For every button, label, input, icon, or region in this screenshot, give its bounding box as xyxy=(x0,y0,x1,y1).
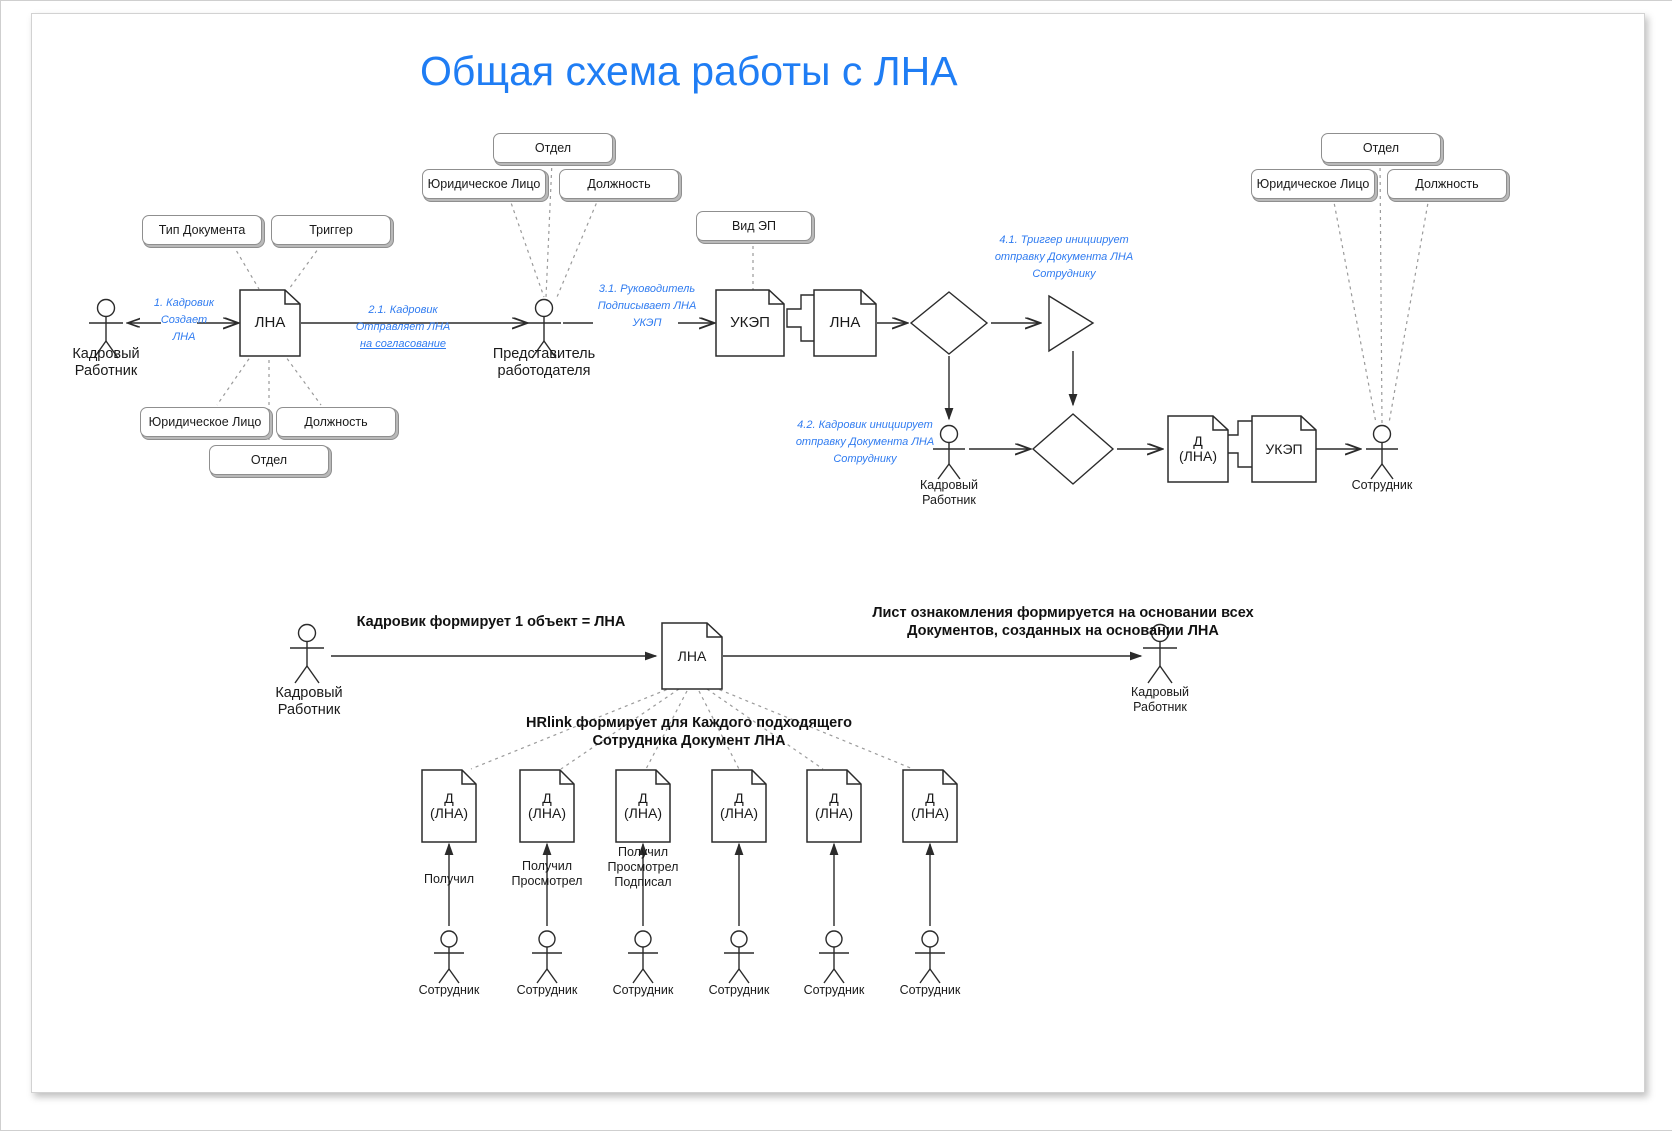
annotation-line: отправку Документа ЛНА xyxy=(787,434,943,451)
annotation-4-1: 4.1. Триггер инициирует отправку Докумен… xyxy=(986,232,1142,283)
annotation-line-underlined: на согласование xyxy=(339,336,467,353)
caption-acquaintance-sheet: Лист ознакомления формируется на основан… xyxy=(743,604,1383,640)
actor-label-employee-2: Сотрудник xyxy=(497,983,597,998)
document-label-line1: Д xyxy=(925,791,934,806)
annotation-line: Создает xyxy=(141,312,227,329)
actor-label-employee-3: Сотрудник xyxy=(593,983,693,998)
annotation-line: 4.1. Триггер инициирует xyxy=(986,232,1142,249)
status-line: Получил xyxy=(399,872,499,887)
document-label: ЛНА xyxy=(830,315,861,331)
actor-label-representative: Представитель работодателя xyxy=(474,346,614,380)
entity-box-yur-lico-2[interactable]: Юридическое Лицо xyxy=(422,169,546,199)
caption-hrlink-generates: HRlink формирует для Каждого подходящего… xyxy=(514,714,864,750)
status-label-3: Получил Просмотрел Подписал xyxy=(593,845,693,890)
annotation-3-1: 3.1. Руководитель Подписывает ЛНА УКЭП xyxy=(587,281,707,332)
entity-box-yur-lico-1[interactable]: Юридическое Лицо xyxy=(140,407,270,437)
document-label-line2: (ЛНА) xyxy=(1179,449,1217,464)
entity-box-doljnost-3[interactable]: Должность xyxy=(1387,169,1507,199)
annotation-line: Отправляет ЛНА xyxy=(339,319,467,336)
annotation-line: Подписывает ЛНА xyxy=(587,298,707,315)
document-label-line1: Д xyxy=(542,791,551,806)
document-label-line2: (ЛНА) xyxy=(815,806,853,821)
status-line: Просмотрел xyxy=(593,860,693,875)
document-ukep-1[interactable]: УКЭП xyxy=(715,289,785,357)
page-title: Общая схема работы с ЛНА xyxy=(420,48,958,95)
stick-figure xyxy=(628,931,658,983)
actor-label-employee-right: Сотрудник xyxy=(1327,478,1437,493)
document-lna-1[interactable]: ЛНА xyxy=(239,289,301,357)
stick-figure xyxy=(724,931,754,983)
actor-label-hr-bottom-right: Кадровый Работник xyxy=(1100,685,1220,715)
entity-box-tip-dokumenta[interactable]: Тип Документа xyxy=(142,215,262,245)
stick-figure xyxy=(434,931,464,983)
document-label-line1: Д xyxy=(1193,434,1202,449)
document-d-lna-2[interactable]: Д (ЛНА) xyxy=(519,769,575,843)
actor-label-line1: Кадровый xyxy=(1100,685,1220,700)
status-line: Подписал xyxy=(593,875,693,890)
document-ukep-2[interactable]: УКЭП xyxy=(1251,415,1317,483)
actor-label-line2: Работник xyxy=(1100,700,1220,715)
actor-label-hr-left: Кадровый Работник xyxy=(41,346,171,380)
caption-line: Сотрудника Документ ЛНА xyxy=(514,732,864,750)
document-label: ЛНА xyxy=(678,649,707,664)
actor-label-line2: работодателя xyxy=(474,363,614,380)
annotation-4-2: 4.2. Кадровик инициирует отправку Докуме… xyxy=(787,417,943,468)
document-d-lna-6[interactable]: Д (ЛНА) xyxy=(902,769,958,843)
actor-label-employee-5: Сотрудник xyxy=(784,983,884,998)
stick-figure xyxy=(290,625,324,684)
document-d-lna-3[interactable]: Д (ЛНА) xyxy=(615,769,671,843)
annotation-line: 4.2. Кадровик инициирует xyxy=(787,417,943,434)
document-d-lna-top[interactable]: Д (ЛНА) xyxy=(1167,415,1229,483)
stick-figure xyxy=(819,931,849,983)
annotation-line: Сотруднику xyxy=(986,266,1142,283)
stick-figure xyxy=(532,931,562,983)
annotation-1: 1. Кадровик Создает ЛНА xyxy=(141,295,227,346)
annotation-line: отправку Документа ЛНА xyxy=(986,249,1142,266)
entity-box-vid-ep[interactable]: Вид ЭП xyxy=(696,211,812,241)
actor-label-line1: Сотрудник xyxy=(1327,478,1437,493)
annotation-2-1: 2.1. Кадровик Отправляет ЛНА на согласов… xyxy=(339,302,467,353)
status-line: Получил xyxy=(497,859,597,874)
document-label: ЛНА xyxy=(255,315,286,331)
actor-label-employee-4: Сотрудник xyxy=(689,983,789,998)
annotation-line: 3.1. Руководитель xyxy=(587,281,707,298)
actor-label-line2: Работник xyxy=(889,493,1009,508)
actor-label-line1: Кадровый xyxy=(244,685,374,702)
document-label-line1: Д xyxy=(444,791,453,806)
status-line: Просмотрел xyxy=(497,874,597,889)
actor-label-hr-bottom-left: Кадровый Работник xyxy=(244,685,374,719)
document-label-line2: (ЛНА) xyxy=(430,806,468,821)
caption-line: HRlink формирует для Каждого подходящего xyxy=(514,714,864,732)
document-label-line1: Д xyxy=(638,791,647,806)
entity-box-doljnost-2[interactable]: Должность xyxy=(559,169,679,199)
stick-figure xyxy=(1366,426,1398,480)
annotation-line: ЛНА xyxy=(141,329,227,346)
document-d-lna-4[interactable]: Д (ЛНА) xyxy=(711,769,767,843)
actor-label-line1: Представитель xyxy=(474,346,614,363)
entity-box-trigger[interactable]: Триггер xyxy=(271,215,391,245)
caption-hr-creates-object: Кадровик формирует 1 объект = ЛНА xyxy=(331,613,651,631)
document-d-lna-1[interactable]: Д (ЛНА) xyxy=(421,769,477,843)
status-label-1: Получил xyxy=(399,872,499,887)
document-label: УКЭП xyxy=(730,315,770,331)
caption-line: Документов, созданных на основании ЛНА xyxy=(743,622,1383,640)
document-label-line2: (ЛНА) xyxy=(624,806,662,821)
actor-label-hr-mid: Кадровый Работник xyxy=(889,478,1009,508)
actor-label-employee-1: Сотрудник xyxy=(399,983,499,998)
document-lna-2[interactable]: ЛНА xyxy=(813,289,877,357)
document-label: УКЭП xyxy=(1265,442,1302,457)
actor-label-line1: Кадровый xyxy=(41,346,171,363)
caption-line: Лист ознакомления формируется на основан… xyxy=(743,604,1383,622)
annotation-line: УКЭП xyxy=(587,315,707,332)
entity-box-otdel-1[interactable]: Отдел xyxy=(209,445,329,475)
document-label-line2: (ЛНА) xyxy=(911,806,949,821)
actor-label-employee-6: Сотрудник xyxy=(880,983,980,998)
document-lna-bottom[interactable]: ЛНА xyxy=(661,622,723,690)
document-label-line1: Д xyxy=(734,791,743,806)
status-label-2: Получил Просмотрел xyxy=(497,859,597,889)
actor-label-line2: Работник xyxy=(41,363,171,380)
actor-label-line1: Кадровый xyxy=(889,478,1009,493)
entity-box-doljnost-1[interactable]: Должность xyxy=(276,407,396,437)
entity-box-otdel-2[interactable]: Отдел xyxy=(493,133,613,163)
document-label-line1: Д xyxy=(829,791,838,806)
stick-figure xyxy=(915,931,945,983)
status-line: Получил xyxy=(593,845,693,860)
annotation-line: 2.1. Кадровик xyxy=(339,302,467,319)
document-label-line2: (ЛНА) xyxy=(720,806,758,821)
actor-label-line2: Работник xyxy=(244,702,374,719)
annotation-line: 1. Кадровик xyxy=(141,295,227,312)
annotation-line: Сотруднику xyxy=(787,451,943,468)
diagram-canvas: Общая схема работы с ЛНА Тип Документа Т… xyxy=(0,0,1672,1131)
document-d-lna-5[interactable]: Д (ЛНА) xyxy=(806,769,862,843)
document-label-line2: (ЛНА) xyxy=(528,806,566,821)
entity-box-yur-lico-3[interactable]: Юридическое Лицо xyxy=(1251,169,1375,199)
entity-box-otdel-3[interactable]: Отдел xyxy=(1321,133,1441,163)
